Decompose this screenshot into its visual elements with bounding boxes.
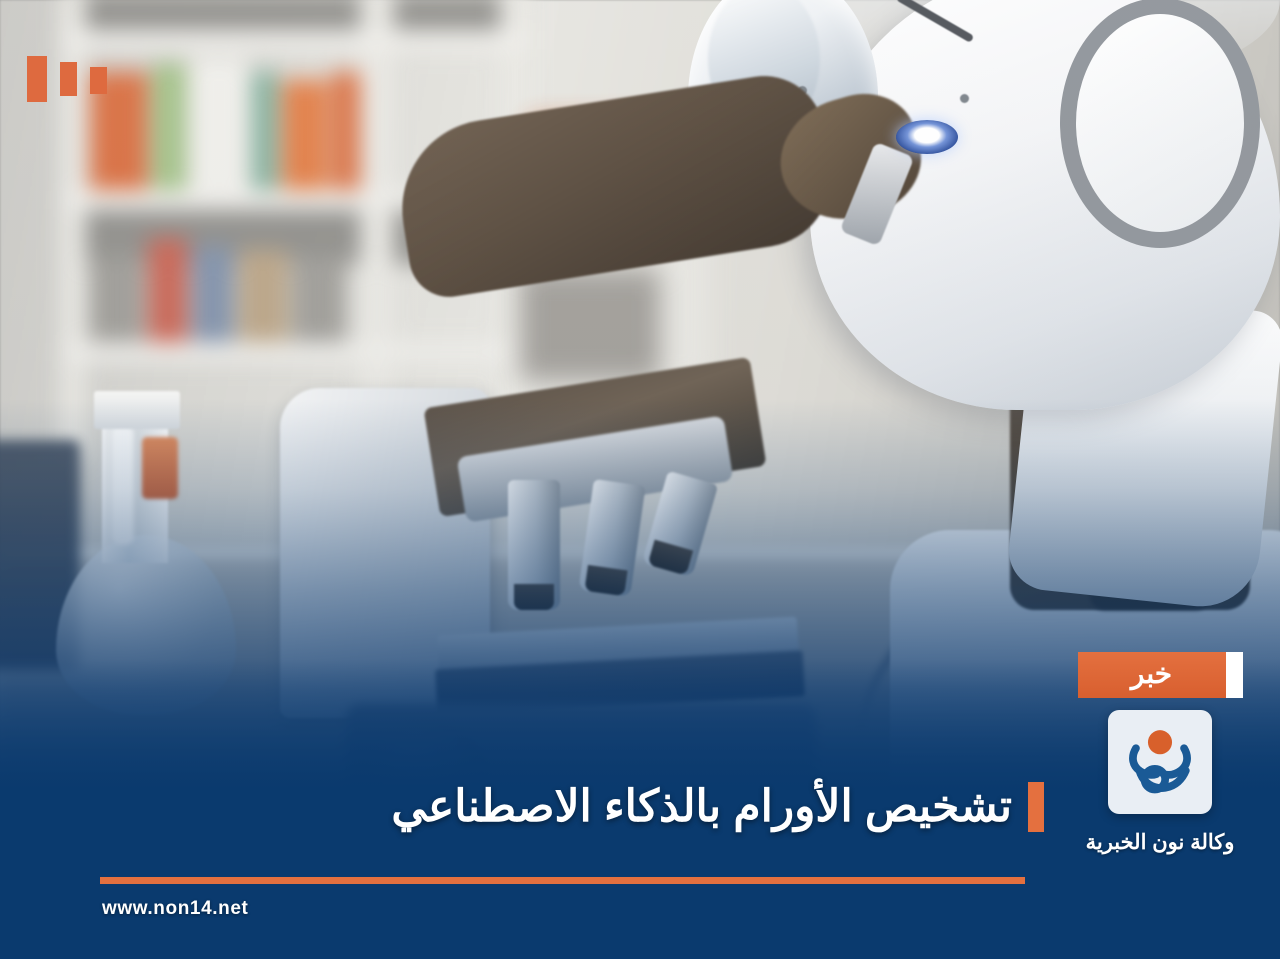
news-graphic-card: خبر وكالة نون الخبرية تشخيص الأورام بالذ… <box>0 0 1280 959</box>
status-badge: خبر <box>1078 652 1243 698</box>
badge-label: خبر <box>1131 660 1172 691</box>
noon-agency-logo-icon <box>1108 710 1212 814</box>
brand-block: خبر وكالة نون الخبرية <box>1054 652 1266 855</box>
three-bars-mark-icon <box>27 56 107 102</box>
badge-white-bar <box>1226 652 1243 698</box>
headline-row: تشخيص الأورام بالذكاء الاصطناعي <box>90 782 1044 832</box>
page-title: تشخيص الأورام بالذكاء الاصطناعي <box>391 782 1012 831</box>
site-url[interactable]: www.non14.net <box>102 898 248 920</box>
badge-background: خبر <box>1078 652 1226 698</box>
headline-accent-bar <box>1028 782 1044 832</box>
divider <box>100 877 1025 884</box>
agency-name: وكالة نون الخبرية <box>1054 830 1266 855</box>
